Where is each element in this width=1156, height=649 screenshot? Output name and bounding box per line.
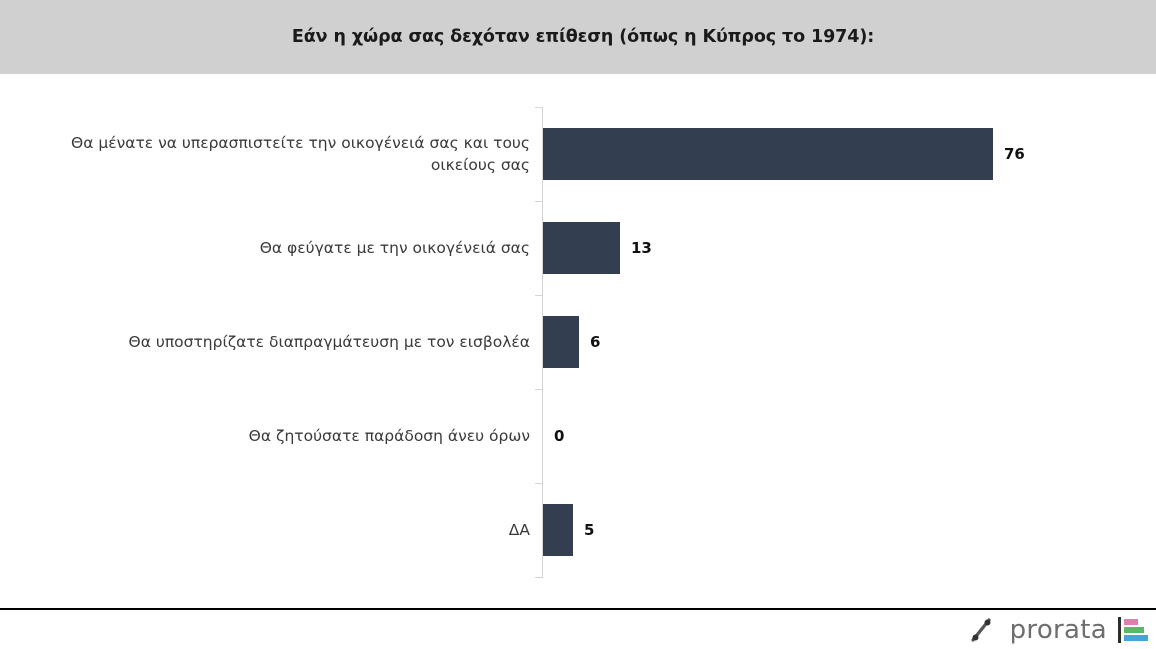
bar-row: Θα μένατε να υπερασπιστείτε την οικογένε… [0, 107, 1156, 201]
brand-mark-bar-pink [1124, 619, 1138, 625]
axis-tick [535, 389, 543, 390]
bar-group: 6 [543, 295, 600, 389]
bar-value-label: 5 [584, 521, 594, 539]
bar-segment [543, 316, 579, 368]
axis-tick [535, 577, 543, 578]
axis-tick [535, 201, 543, 202]
chart-plot-area: Θα μένατε να υπερασπιστείτε την οικογένε… [0, 74, 1156, 609]
bar-group: 13 [543, 201, 652, 295]
percent-icon [966, 615, 996, 645]
bar-value-label: 76 [1004, 145, 1025, 163]
bar-value-label: 6 [590, 333, 600, 351]
axis-tick [535, 295, 543, 296]
category-label: Θα μένατε να υπερασπιστείτε την οικογένε… [20, 132, 530, 177]
category-label: Θα ζητούσατε παράδοση άνευ όρων [20, 425, 530, 447]
brand-name: prorata [1010, 617, 1107, 643]
bar-row: Θα φεύγατε με την οικογένειά σας 13 [0, 201, 1156, 295]
bar-segment [543, 128, 993, 180]
brand-mark-bar-green [1124, 627, 1144, 633]
bar-rows: Θα μένατε να υπερασπιστείτε την οικογένε… [0, 107, 1156, 577]
bar-row: Θα υποστηρίζατε διαπραγμάτευση με τον ει… [0, 295, 1156, 389]
category-label: Θα υποστηρίζατε διαπραγμάτευση με τον ει… [20, 331, 530, 353]
axis-tick [535, 107, 543, 108]
footer: prorata [0, 610, 1156, 648]
brand-logo: prorata [966, 612, 1148, 648]
bar-segment [543, 504, 573, 556]
bar-group: 5 [543, 483, 594, 577]
bar-group: 76 [543, 107, 1025, 201]
bar-value-label: 13 [631, 239, 652, 257]
bar-row: ΔΑ 5 [0, 483, 1156, 577]
axis-tick [535, 483, 543, 484]
brand-mark-stem [1118, 617, 1121, 643]
bar-group: 0 [543, 389, 564, 483]
category-label: Θα φεύγατε με την οικογένειά σας [20, 237, 530, 259]
bar-value-label: 0 [554, 427, 564, 445]
chart-title-band: Εάν η χώρα σας δεχόταν επίθεση (όπως η Κ… [0, 0, 1156, 74]
bar-segment [543, 222, 620, 274]
bar-row: Θα ζητούσατε παράδοση άνευ όρων 0 [0, 389, 1156, 483]
brand-mark-bar-blue [1124, 635, 1148, 641]
page-title: Εάν η χώρα σας δεχόταν επίθεση (όπως η Κ… [282, 27, 874, 47]
bar-chart-mark-icon [1118, 617, 1148, 643]
category-label: ΔΑ [20, 519, 530, 541]
